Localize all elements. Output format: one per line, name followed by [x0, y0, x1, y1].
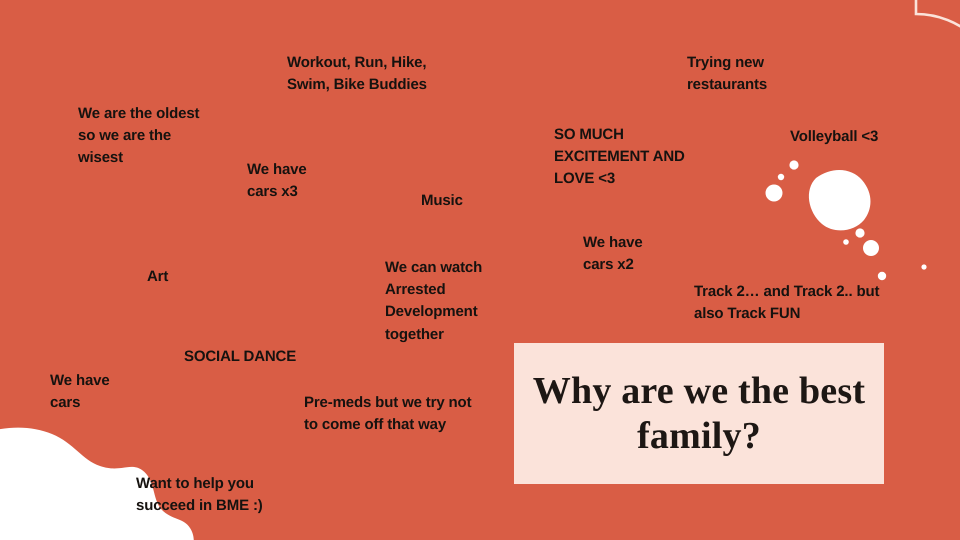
- slide-canvas: We are the oldest so we are the wisest W…: [0, 0, 960, 540]
- note-volleyball: Volleyball <3: [790, 126, 878, 148]
- note-social-dance: SOCIAL DANCE: [184, 346, 296, 368]
- note-music: Music: [421, 190, 463, 212]
- note-track-fun: Track 2… and Track 2.. but also Track FU…: [694, 281, 879, 325]
- note-pre-meds: Pre-meds but we try not to come off that…: [304, 392, 471, 436]
- note-so-much-excitement: SO MUCH EXCITEMENT AND LOVE <3: [554, 124, 685, 191]
- corner-blob-decoration: [0, 404, 230, 540]
- note-succeed-bme: Want to help you succeed in BME :): [136, 473, 263, 517]
- note-cars-x2: We have cars x2: [583, 232, 643, 276]
- note-oldest-wisest: We are the oldest so we are the wisest: [78, 103, 199, 170]
- title-card: Why are we the best family?: [514, 343, 884, 484]
- note-art: Art: [147, 266, 168, 288]
- note-workout-buddies: Workout, Run, Hike, Swim, Bike Buddies: [287, 52, 427, 96]
- page-title: Why are we the best family?: [514, 369, 884, 458]
- note-trying-restaurants: Trying new restaurants: [687, 52, 767, 96]
- note-arrested-development: We can watch Arrested Development togeth…: [385, 257, 482, 346]
- blob-cluster-decoration: [748, 160, 938, 290]
- note-we-have-cars: We have cars: [50, 370, 110, 414]
- concentric-arcs-decoration: [782, 0, 960, 124]
- note-cars-x3: We have cars x3: [247, 159, 307, 203]
